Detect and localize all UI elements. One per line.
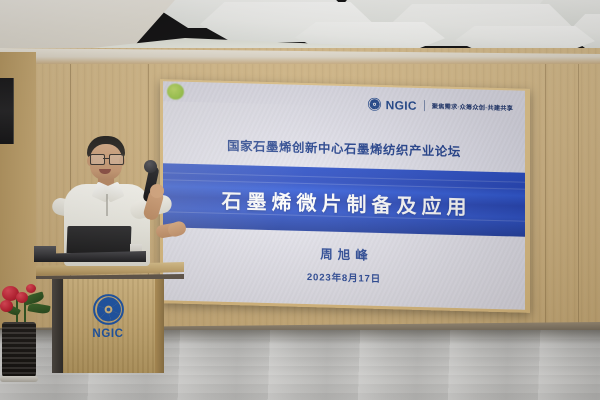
- rose-bloom: [26, 284, 36, 293]
- glasses-lens: [90, 154, 105, 165]
- rose-bloom: [0, 300, 13, 312]
- green-status-dot: [167, 83, 184, 99]
- brand-divider: [424, 100, 425, 111]
- laptop-computer[interactable]: [58, 226, 138, 260]
- presentation-slide: NGIC 聚焦需求·众筹众创·共建共享 国家石墨烯创新中心石墨烯纺织产业论坛 石…: [163, 81, 525, 309]
- red-rose-arrangement: [0, 276, 52, 386]
- slide-wordmark: NGIC: [386, 99, 417, 112]
- forum-title: 国家石墨烯创新中心石墨烯纺织产业论坛: [163, 134, 525, 161]
- slide-main-title: 石墨烯微片制备及应用: [163, 183, 525, 221]
- slide-brand-lockup: NGIC 聚焦需求·众筹众创·共建共享: [368, 98, 513, 115]
- glasses-bridge: [103, 158, 109, 159]
- slide-speaker-name: 周旭峰: [163, 239, 525, 267]
- podium-left-edge: [52, 277, 63, 373]
- podium-brand-lockup: NGIC: [80, 294, 136, 340]
- projection-screen[interactable]: NGIC 聚焦需求·众筹众创·共建共享 国家石墨烯创新中心石墨烯纺织产业论坛 石…: [163, 81, 525, 309]
- vase-base: [0, 376, 38, 382]
- laptop-screen-lid: [67, 226, 132, 253]
- slide-date: 2023年8月17日: [163, 265, 525, 288]
- ngic-pinwheel-logo: [93, 294, 124, 325]
- eyeglasses-icon: [89, 154, 123, 163]
- podium-wordmark: NGIC: [80, 328, 136, 340]
- wall-mounted-display: [0, 78, 14, 144]
- slide-title-banner: 石墨烯微片制备及应用: [163, 163, 525, 236]
- wall-seam: [545, 62, 546, 324]
- ngic-pinwheel-logo: [368, 98, 381, 111]
- wall-seam: [578, 63, 579, 323]
- conference-photo-scene: NGIC 聚焦需求·众筹众创·共建共享 国家石墨烯创新中心石墨烯纺织产业论坛 石…: [0, 0, 600, 400]
- podium-right-edge: [155, 277, 164, 373]
- glasses-lens: [109, 154, 124, 165]
- slide-tagline: 聚焦需求·众筹众创·共建共享: [432, 101, 513, 112]
- speaker-right-hand: [150, 184, 164, 198]
- polo-placket: [106, 194, 108, 216]
- podium: NGIC: [52, 262, 168, 372]
- flower-leaf: [27, 302, 50, 315]
- flower-vase: [2, 322, 36, 380]
- rose-bloom: [16, 292, 28, 303]
- speaker-head: [86, 136, 126, 180]
